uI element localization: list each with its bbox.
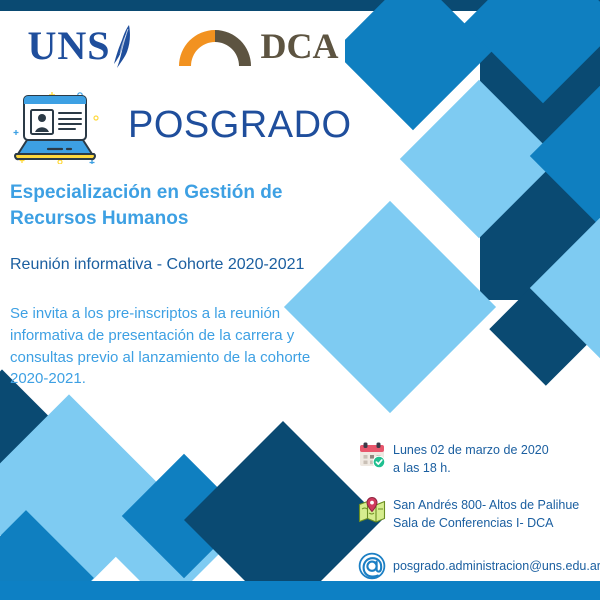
event-date-line2: a las 18 h. <box>393 459 549 477</box>
program-title: Especialización en Gestión de Recursos H… <box>10 180 330 231</box>
event-email-address[interactable]: posgrado.administracion@uns.edu.ar <box>393 551 600 576</box>
event-location-line2: Sala de Conferencias I- DCA <box>393 514 579 532</box>
poster-canvas: UNS DCA <box>0 0 600 600</box>
event-location-text: San Andrés 800- Altos de Palihue Sala de… <box>393 495 579 532</box>
at-sign-icon <box>358 552 386 580</box>
event-date-row: Lunes 02 de marzo de 2020 a las 18 h. <box>358 440 598 477</box>
arch-icon <box>177 26 253 66</box>
invitation-body: Se invita a los pre-inscriptos a la reun… <box>10 303 330 390</box>
dca-logo: DCA <box>170 17 345 75</box>
event-info-block: Lunes 02 de marzo de 2020 a las 18 h. <box>358 440 598 598</box>
laptop-id-card-icon <box>8 86 108 164</box>
page-title: POSGRADO <box>128 104 352 147</box>
posgrado-header: POSGRADO <box>8 86 352 164</box>
logo-band: UNS DCA <box>0 11 345 81</box>
calendar-check-icon <box>358 441 386 469</box>
cohort-subtitle: Reunión informativa - Cohorte 2020-2021 <box>10 255 340 276</box>
map-pin-icon <box>358 496 386 524</box>
feather-icon <box>111 23 133 69</box>
uns-logo-text: UNS <box>27 26 110 66</box>
event-date-line1: Lunes 02 de marzo de 2020 <box>393 443 549 457</box>
event-email-row[interactable]: posgrado.administracion@uns.edu.ar <box>358 551 598 580</box>
event-location-line1: San Andrés 800- Altos de Palihue <box>393 498 579 512</box>
dca-logo-text: DCA <box>261 28 339 64</box>
uns-logo: UNS <box>0 11 160 81</box>
event-location-row: San Andrés 800- Altos de Palihue Sala de… <box>358 495 598 532</box>
event-date-text: Lunes 02 de marzo de 2020 a las 18 h. <box>393 440 549 477</box>
poster-content: UNS DCA <box>0 0 600 600</box>
